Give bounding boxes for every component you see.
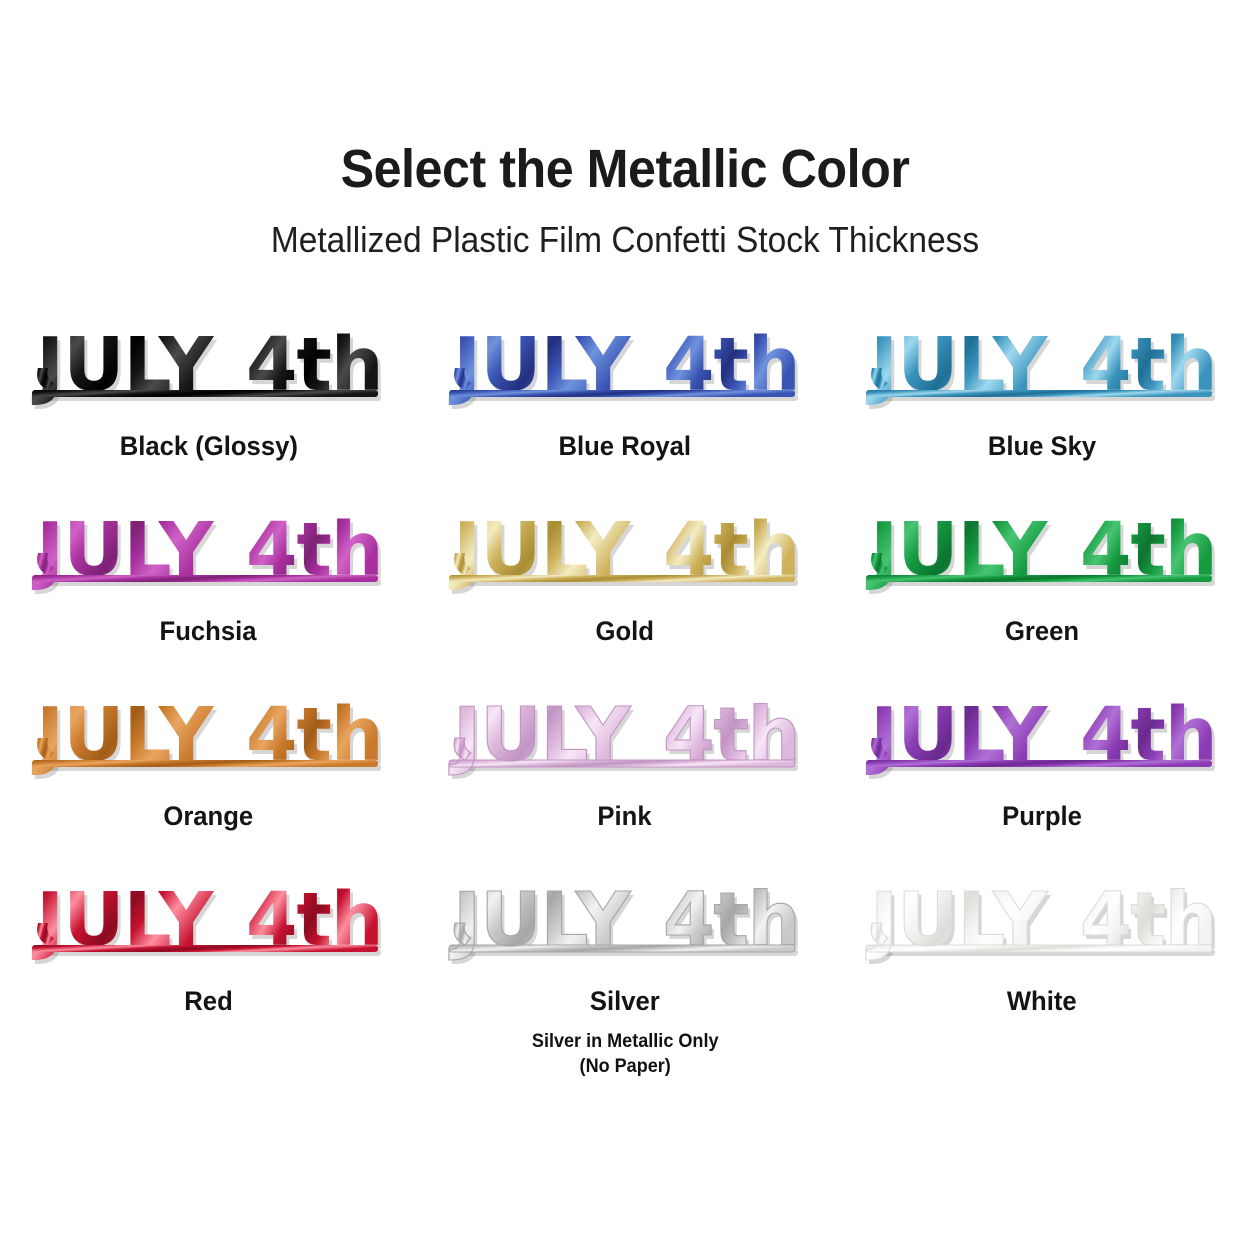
artwork-fill: JULY4th	[865, 692, 1216, 778]
color-name-label-black-glossy: Black (Glossy)	[119, 432, 297, 462]
confetti-artwork-silver[interactable]: JULY4thJULY4thJULY4thJULY4th	[445, 873, 805, 973]
color-swatch-white[interactable]: JULY4thJULY4thJULY4thJULY4thWhite	[833, 873, 1250, 1058]
color-name-label-orange: Orange	[163, 802, 253, 832]
color-swatch-purple[interactable]: JULY4thJULY4thJULY4thPurple	[833, 688, 1250, 873]
color-name-label-gold: Gold	[596, 617, 654, 647]
color-note-line-1: Silver in Metallic Only	[532, 1029, 719, 1055]
july-4th-cutout-silver: JULY4thJULY4thJULY4thJULY4th	[445, 873, 805, 973]
color-swatch-pink[interactable]: JULY4thJULY4thJULY4thJULY4thPink	[417, 688, 834, 873]
color-swatch-blue-sky[interactable]: JULY4thJULY4thJULY4thBlue Sky	[833, 318, 1250, 503]
color-name-label-green: Green	[1005, 617, 1079, 647]
color-swatch-fuchsia[interactable]: JULY4thJULY4thJULY4thFuchsia	[0, 503, 417, 688]
color-name-label-red: Red	[184, 987, 232, 1017]
confetti-artwork-white[interactable]: JULY4thJULY4thJULY4thJULY4th	[862, 873, 1222, 973]
july-4th-cutout-white: JULY4thJULY4thJULY4thJULY4th	[862, 873, 1222, 973]
artwork-fill: JULY4th	[31, 507, 382, 593]
confetti-artwork-pink[interactable]: JULY4thJULY4thJULY4thJULY4th	[445, 688, 805, 788]
confetti-artwork-red[interactable]: JULY4thJULY4thJULY4th	[28, 873, 388, 973]
confetti-artwork-orange[interactable]: JULY4thJULY4thJULY4th	[28, 688, 388, 788]
july-4th-cutout-pink: JULY4thJULY4thJULY4thJULY4th	[445, 688, 805, 788]
artwork-fill: JULY4th	[448, 322, 799, 408]
color-name-label-pink: Pink	[598, 802, 652, 832]
july-4th-cutout-blue-sky: JULY4thJULY4thJULY4th	[862, 318, 1222, 418]
july-4th-cutout-red: JULY4thJULY4thJULY4th	[28, 873, 388, 973]
confetti-artwork-green[interactable]: JULY4thJULY4thJULY4th	[862, 503, 1222, 603]
july-4th-cutout-purple: JULY4thJULY4thJULY4th	[862, 688, 1222, 788]
artwork-fill: JULY4th	[31, 692, 382, 778]
color-swatch-silver[interactable]: JULY4thJULY4thJULY4thJULY4thSilverSilver…	[417, 873, 834, 1058]
svg-text:JULY: JULY	[448, 877, 631, 963]
artwork-fill: JULY4th	[865, 507, 1216, 593]
page-title: Select the Metallic Color	[44, 142, 1207, 196]
july-4th-cutout-gold: JULY4thJULY4thJULY4th	[445, 503, 805, 603]
artwork-edge: JULY4th	[448, 692, 799, 778]
july-4th-cutout-orange: JULY4thJULY4thJULY4th	[28, 688, 388, 788]
july-4th-cutout-fuchsia: JULY4thJULY4thJULY4th	[28, 503, 388, 603]
color-swatch-red[interactable]: JULY4thJULY4thJULY4thRed	[0, 873, 417, 1058]
color-note-silver: Silver in Metallic Only(No Paper)	[532, 1029, 719, 1080]
confetti-artwork-fuchsia[interactable]: JULY4thJULY4thJULY4th	[28, 503, 388, 603]
artwork-fill: JULY4th	[865, 322, 1216, 408]
color-swatch-black-glossy[interactable]: JULY4thJULY4thJULY4thBlack (Glossy)	[0, 318, 417, 503]
july-4th-cutout-blue-royal: JULY4thJULY4thJULY4th	[445, 318, 805, 418]
svg-text:JULY: JULY	[865, 877, 1048, 963]
color-swatch-gold[interactable]: JULY4thJULY4thJULY4thGold	[417, 503, 834, 688]
color-swatch-blue-royal[interactable]: JULY4thJULY4thJULY4thBlue Royal	[417, 318, 834, 503]
color-swatch-grid: JULY4thJULY4thJULY4thBlack (Glossy)JULY4…	[0, 318, 1250, 1058]
color-name-label-purple: Purple	[1002, 802, 1082, 832]
confetti-artwork-blue-royal[interactable]: JULY4thJULY4thJULY4th	[445, 318, 805, 418]
confetti-artwork-blue-sky[interactable]: JULY4thJULY4thJULY4th	[862, 318, 1222, 418]
svg-text:4th: 4th	[663, 692, 800, 778]
july-4th-cutout-green: JULY4thJULY4thJULY4th	[862, 503, 1222, 603]
artwork-fill: JULY4th	[448, 507, 799, 593]
color-swatch-green[interactable]: JULY4thJULY4thJULY4thGreen	[833, 503, 1250, 688]
page-subtitle: Metallized Plastic Film Confetti Stock T…	[44, 222, 1207, 258]
color-name-label-blue-sky: Blue Sky	[987, 432, 1095, 462]
color-note-line-2: (No Paper)	[532, 1054, 719, 1080]
confetti-artwork-black-glossy[interactable]: JULY4thJULY4thJULY4th	[28, 318, 388, 418]
page-root: Select the Metallic Color Metallized Pla…	[0, 0, 1250, 1250]
color-name-label-fuchsia: Fuchsia	[160, 617, 257, 647]
header: Select the Metallic Color Metallized Pla…	[0, 142, 1250, 258]
svg-text:JULY: JULY	[448, 692, 631, 778]
svg-text:4th: 4th	[663, 877, 800, 963]
color-name-label-blue-royal: Blue Royal	[559, 432, 692, 462]
color-name-label-silver: Silver	[590, 987, 660, 1017]
confetti-artwork-purple[interactable]: JULY4thJULY4thJULY4th	[862, 688, 1222, 788]
artwork-edge: JULY4th	[865, 877, 1216, 963]
artwork-fill: JULY4th	[31, 322, 382, 408]
artwork-edge: JULY4th	[448, 877, 799, 963]
artwork-fill: JULY4th	[31, 877, 382, 963]
color-swatch-orange[interactable]: JULY4thJULY4thJULY4thOrange	[0, 688, 417, 873]
confetti-artwork-gold[interactable]: JULY4thJULY4thJULY4th	[445, 503, 805, 603]
july-4th-cutout-black-glossy: JULY4thJULY4thJULY4th	[28, 318, 388, 418]
svg-text:4th: 4th	[1080, 877, 1217, 963]
color-name-label-white: White	[1007, 987, 1077, 1017]
